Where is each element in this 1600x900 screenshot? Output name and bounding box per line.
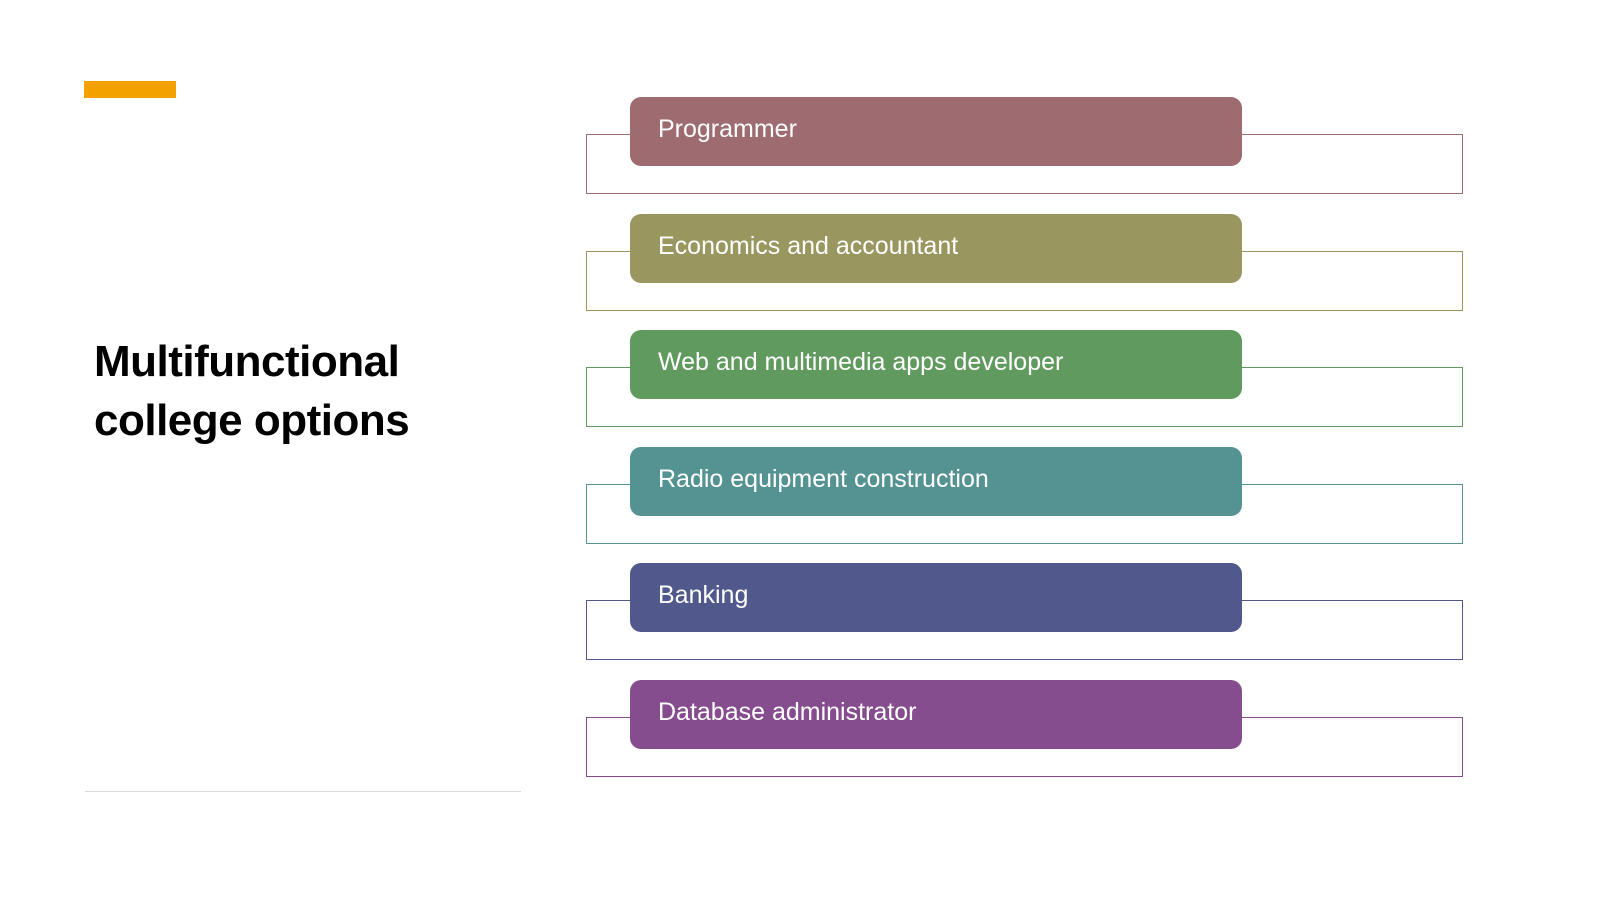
slide-canvas: Multifunctional college options Programm… bbox=[0, 0, 1600, 900]
process-row-pill[interactable]: Database administrator bbox=[630, 680, 1242, 749]
process-row-label: Web and multimedia apps developer bbox=[630, 350, 1063, 375]
process-row-pill[interactable]: Economics and accountant bbox=[630, 214, 1242, 283]
process-row[interactable]: Programmer bbox=[0, 97, 1600, 229]
process-row[interactable]: Economics and accountant bbox=[0, 214, 1600, 346]
process-row-label: Economics and accountant bbox=[630, 234, 958, 259]
process-row-label: Radio equipment construction bbox=[630, 467, 989, 492]
process-list-diagram: ProgrammerEconomics and accountantWeb an… bbox=[0, 0, 1600, 900]
process-row-label: Database administrator bbox=[630, 700, 916, 725]
process-row-pill[interactable]: Radio equipment construction bbox=[630, 447, 1242, 516]
process-row-label: Banking bbox=[630, 583, 748, 608]
process-row[interactable]: Database administrator bbox=[0, 680, 1600, 812]
process-row-pill[interactable]: Banking bbox=[630, 563, 1242, 632]
process-row[interactable]: Radio equipment construction bbox=[0, 447, 1600, 579]
process-row-pill[interactable]: Web and multimedia apps developer bbox=[630, 330, 1242, 399]
process-row-label: Programmer bbox=[630, 117, 797, 142]
process-row-pill[interactable]: Programmer bbox=[630, 97, 1242, 166]
process-row[interactable]: Banking bbox=[0, 563, 1600, 695]
process-row[interactable]: Web and multimedia apps developer bbox=[0, 330, 1600, 462]
